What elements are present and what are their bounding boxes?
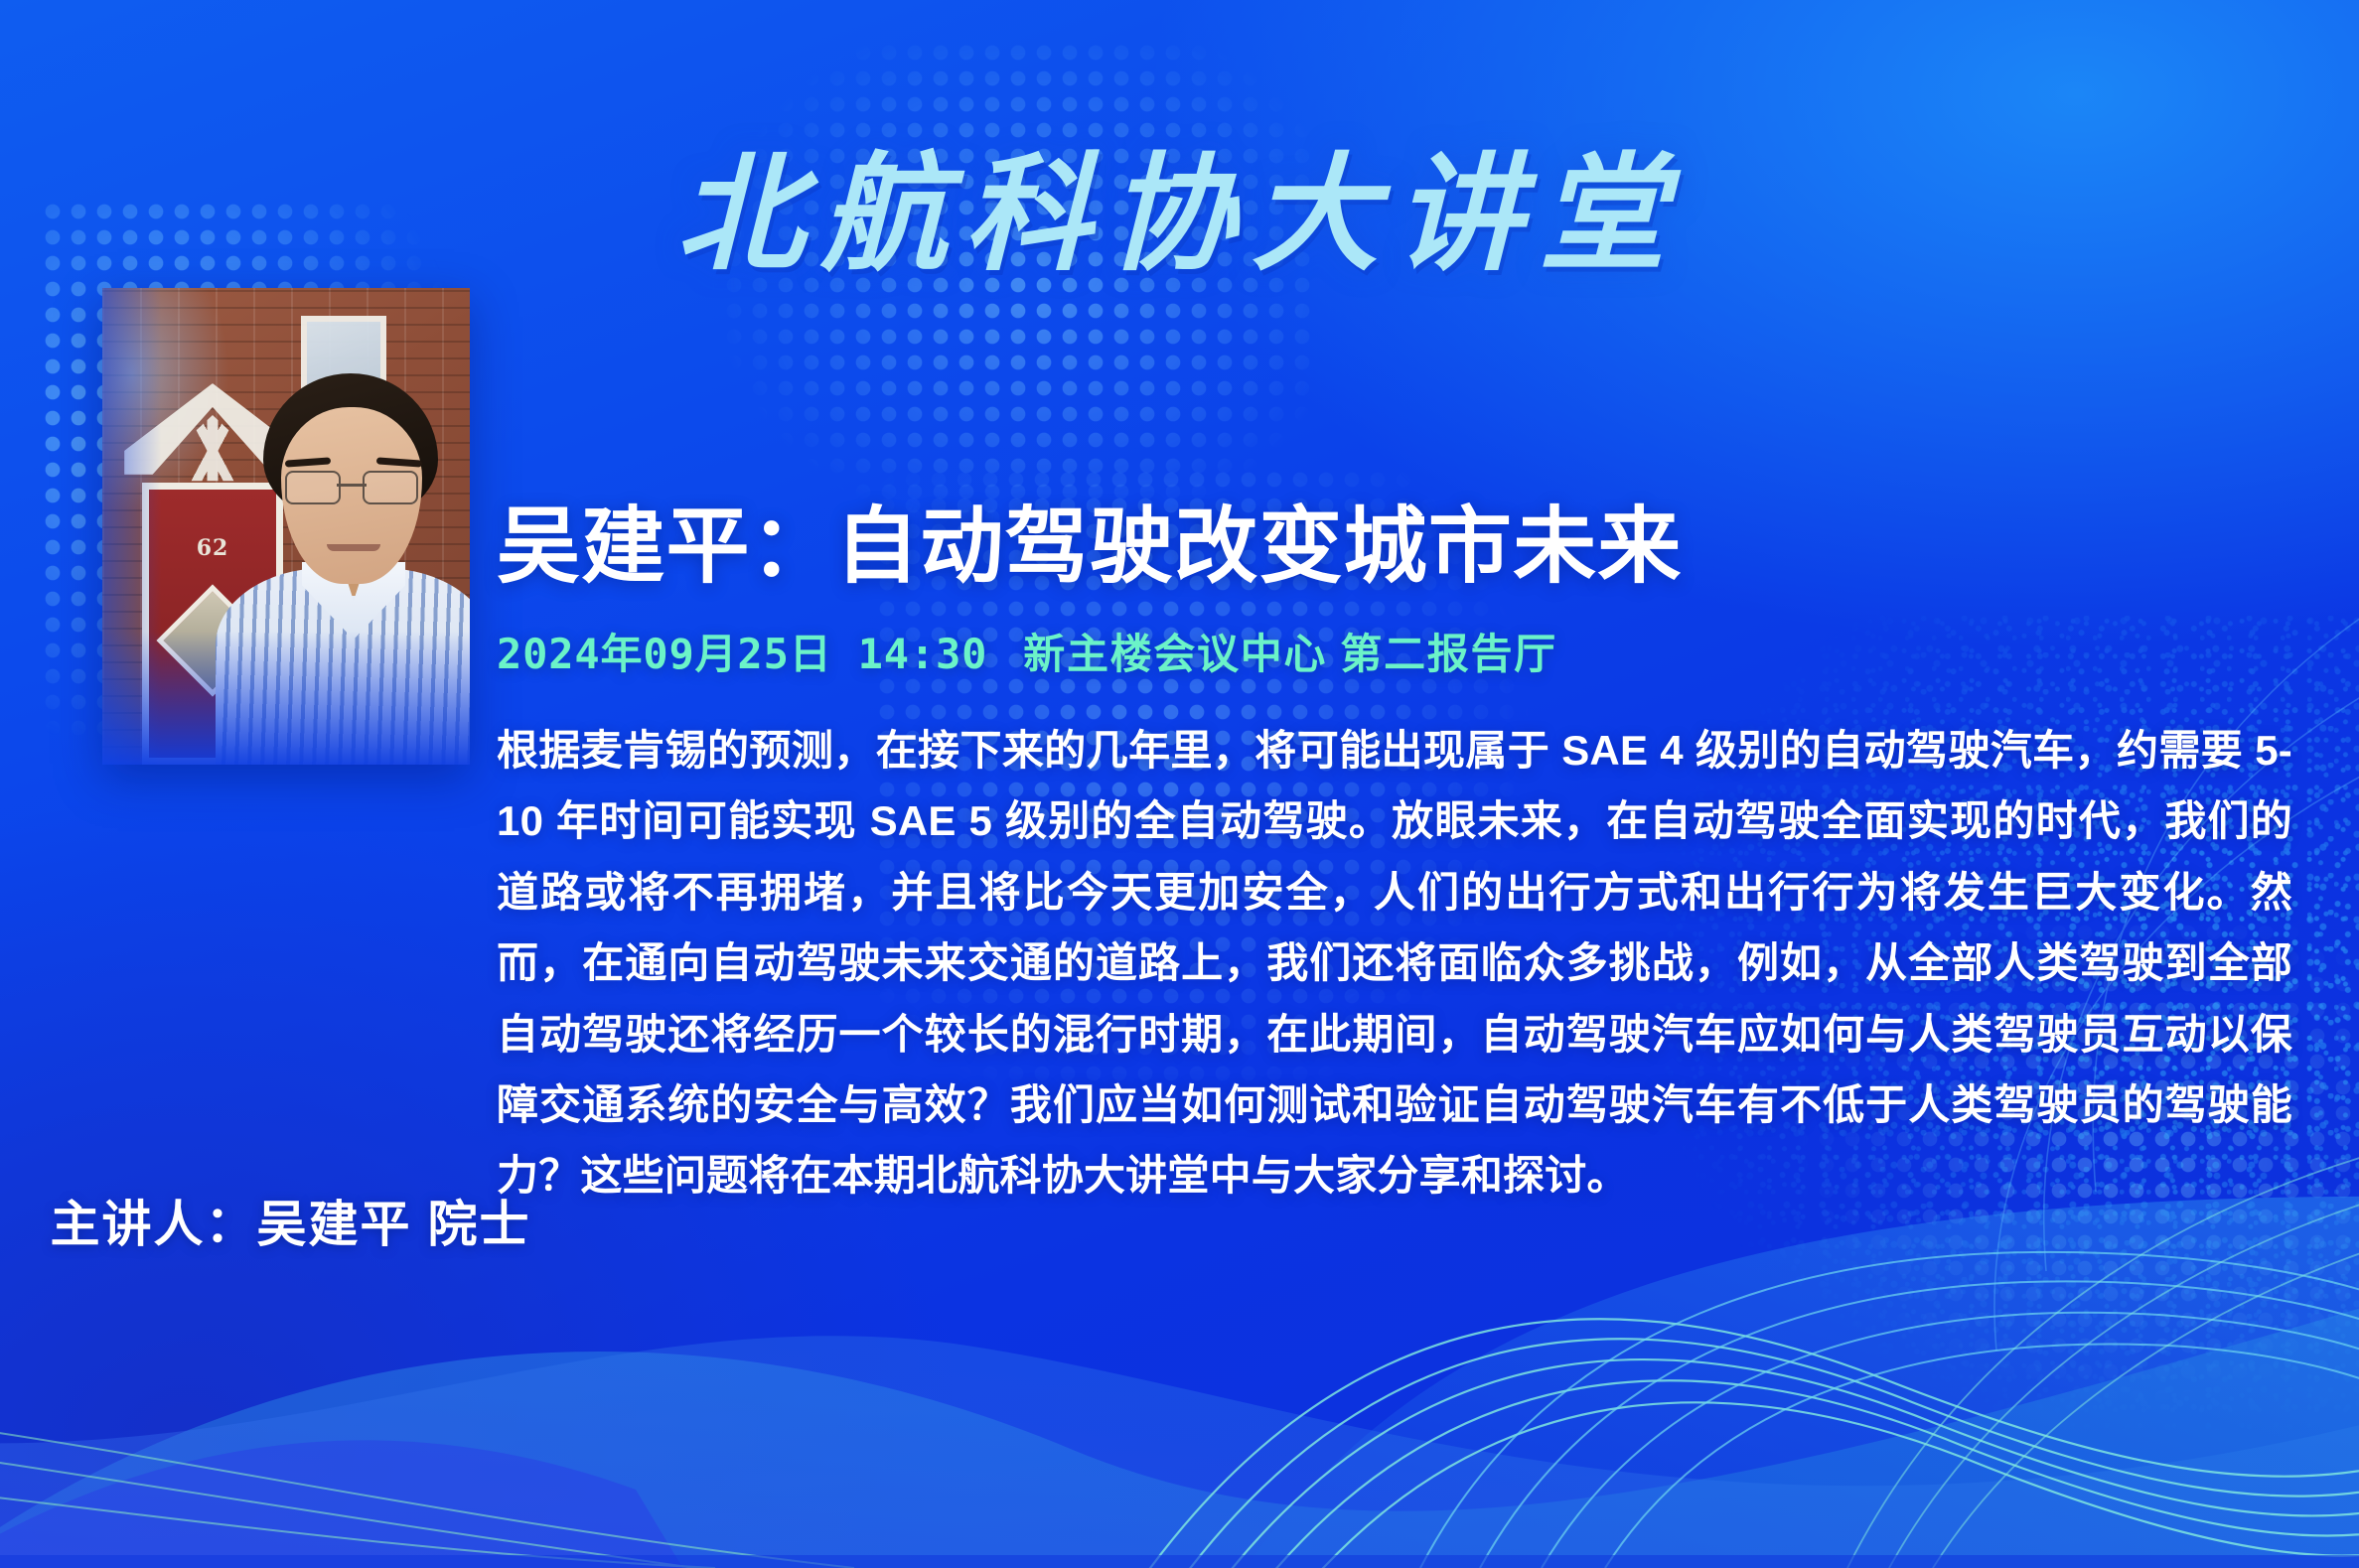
door-diamond-glass xyxy=(156,584,268,696)
door-number: 62 xyxy=(149,535,276,561)
event-description: 根据麦肯锡的预测，在接下来的几年里，将可能出现属于 SAE 4 级别的自动驾驶汽… xyxy=(497,715,2292,1212)
speaker-caption: 主讲人：吴建平 院士 xyxy=(0,1185,581,1256)
event-poster: 北航科协大讲堂 62 xyxy=(0,0,2359,1568)
porch-gable xyxy=(124,383,301,475)
face xyxy=(281,407,422,584)
event-headline: 吴建平：自动驾驶改变城市未来 xyxy=(497,502,2292,591)
house-window xyxy=(301,316,386,427)
eyebrow-left xyxy=(285,457,331,467)
eyebrow-right xyxy=(376,457,422,467)
neck xyxy=(322,552,385,596)
speaker-photo: 62 xyxy=(102,288,470,765)
mouth xyxy=(327,544,380,551)
hair xyxy=(263,373,438,522)
porch-gable-rays xyxy=(142,415,283,487)
photo-background-brick-wall: 62 xyxy=(102,288,470,765)
event-meta: 2024年09月25日 14:30新主楼会议中心 第二报告厅 xyxy=(497,621,2292,681)
speaker-portrait xyxy=(229,367,470,765)
striped-shirt xyxy=(216,568,470,765)
event-venue: 新主楼会议中心 第二报告厅 xyxy=(1023,631,1557,677)
event-datetime: 2024年09月25日 14:30 xyxy=(497,630,987,678)
glasses-icon xyxy=(281,471,422,504)
shirt-collar xyxy=(302,562,405,640)
page-title: 北航科协大讲堂 xyxy=(0,111,2359,295)
house-door: 62 xyxy=(142,483,283,765)
content-column: 吴建平：自动驾驶改变城市未来 2024年09月25日 14:30新主楼会议中心 … xyxy=(497,298,2292,1212)
